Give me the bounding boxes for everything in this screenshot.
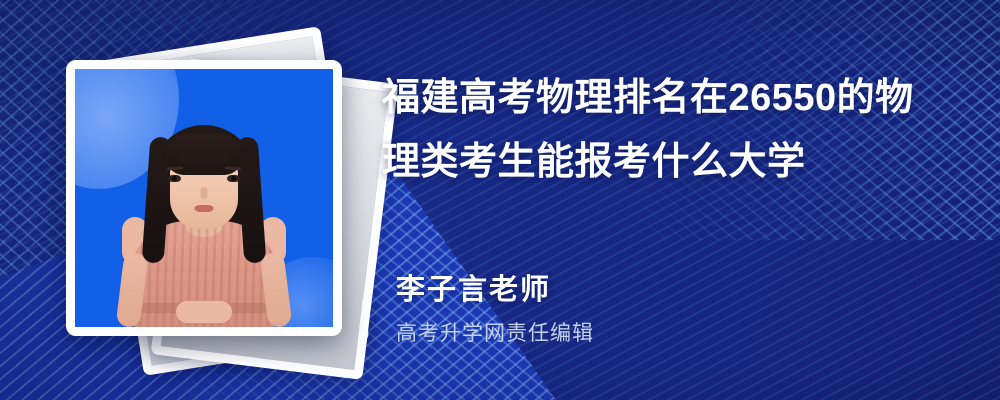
eye-right — [227, 175, 240, 182]
nose-shape — [201, 187, 208, 199]
banner-text-column: 福建高考物理排名在26550的物理类考生能报考什么大学 李子言老师 高考升学网责… — [382, 0, 982, 400]
portrait-card-stack — [0, 0, 380, 400]
hands-shape — [176, 301, 232, 323]
page-title: 福建高考物理排名在26550的物理类考生能报考什么大学 — [382, 66, 952, 194]
author-name: 李子言老师 — [396, 266, 551, 308]
mouth-shape — [195, 205, 214, 212]
article-header-banner: 福建高考物理排名在26550的物理类考生能报考什么大学 李子言老师 高考升学网责… — [0, 0, 1000, 400]
eye-left — [168, 175, 181, 182]
author-role-label: 高考升学网责任编辑 — [396, 317, 594, 347]
avatar — [104, 111, 304, 327]
photo-card-front — [66, 60, 342, 336]
